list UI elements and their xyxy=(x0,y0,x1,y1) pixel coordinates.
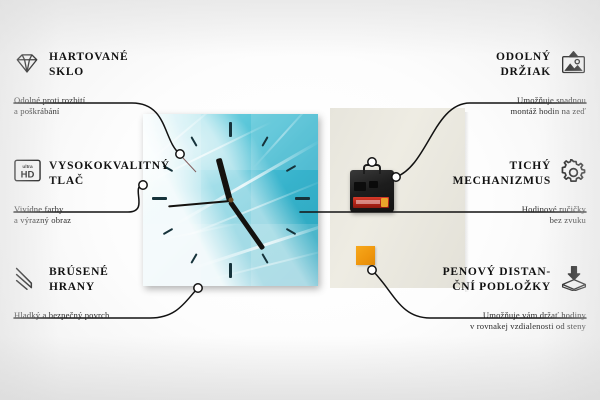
feature-title-line2: SKLO xyxy=(49,65,128,80)
promo-infographic: HARTOVANÉ SKLO Odolné proti rozbití a po… xyxy=(0,0,600,400)
feature-desc-line1: Hladký a bezpečný povrch xyxy=(14,310,219,321)
feature-title-line1: VYSOKOKVALITNÝ xyxy=(49,159,170,174)
svg-text:HD: HD xyxy=(21,170,35,181)
feature-title-line1: PENOVÝ DISTAN- xyxy=(361,265,551,280)
feature-title-line2: ČNÍ PODLOŽKY xyxy=(361,280,551,295)
feature-tempered-glass: HARTOVANÉ SKLO Odolné proti rozbití a po… xyxy=(14,50,219,117)
feature-title-line1: TICHÝ xyxy=(381,159,551,174)
picture-frame-icon xyxy=(560,50,586,76)
feature-desc-line2: montáž hodin na zeď xyxy=(381,106,586,117)
gear-icon xyxy=(560,159,586,185)
feature-silent-mechanism: TICHÝ MECHANIZMUS Hodinové ručičky bez z… xyxy=(381,159,586,226)
feature-desc-line2: bez zvuku xyxy=(381,215,586,226)
feature-title-line1: HARTOVANÉ xyxy=(49,50,128,65)
brushed-edges-icon xyxy=(14,265,40,291)
battery-label xyxy=(356,200,380,204)
feature-desc-line1: Hodinové ručičky xyxy=(381,204,586,215)
clock-center-cap xyxy=(228,198,233,203)
feature-desc-line1: Odolné proti rozbití xyxy=(14,95,219,106)
ultra-hd-icon: ultra HD xyxy=(14,159,40,185)
feature-title-line2: DRŽIAK xyxy=(381,65,551,80)
feature-title-line2: HRANY xyxy=(49,280,109,295)
feature-brushed-edges: BRÚSENÉ HRANY Hladký a bezpečný povrch xyxy=(14,265,219,321)
feature-title-line1: BRÚSENÉ xyxy=(49,265,109,280)
feature-high-quality-print: ultra HD VYSOKOKVALITNÝ TLAČ Vivídne far… xyxy=(14,159,219,226)
feature-desc-line2: a poškrábání xyxy=(14,106,219,117)
diamond-icon xyxy=(14,50,40,76)
mechanism-slot-left xyxy=(354,182,366,191)
feature-desc-line2: a výrazný obraz xyxy=(14,215,219,226)
feature-desc-line1: Umožňuje vám držať hodiny xyxy=(361,310,586,321)
foam-spacer-icon xyxy=(560,265,586,291)
feature-foam-spacers: PENOVÝ DISTAN- ČNÍ PODLOŽKY Umožňuje vám… xyxy=(361,265,586,332)
feature-title-line1: ODOLNÝ xyxy=(381,50,551,65)
feature-title-line2: TLAČ xyxy=(49,174,170,189)
feature-desc-line1: Vivídne farby xyxy=(14,204,219,215)
mechanism-slot-right xyxy=(369,181,378,188)
feature-durable-holder: ODOLNÝ DRŽIAK Umožňuje snadnou montáž ho… xyxy=(381,50,586,117)
feature-desc-line1: Umožňuje snadnou xyxy=(381,95,586,106)
foam-spacer-pad xyxy=(356,246,375,265)
feature-desc-line2: v rovnakej vzdialenosti od steny xyxy=(361,321,586,332)
feature-title-line2: MECHANIZMUS xyxy=(381,174,551,189)
mechanism-hanger xyxy=(363,164,381,174)
